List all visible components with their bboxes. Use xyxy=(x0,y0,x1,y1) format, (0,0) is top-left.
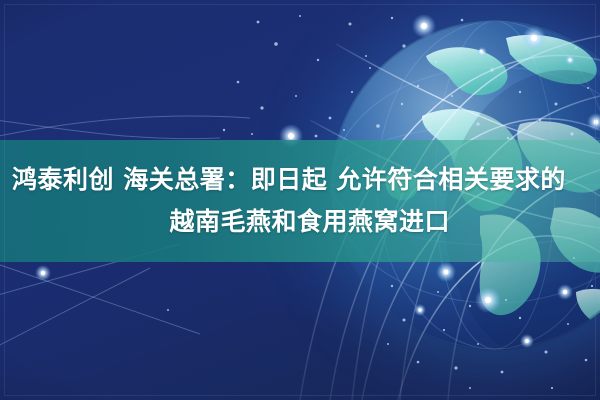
caption-text-block: 鸿泰利创 海关总署：即日起 允许符合相关要求的 越南毛燕和食用燕窝进口 xyxy=(0,140,600,262)
caption-line-1: 鸿泰利创 海关总署：即日起 允许符合相关要求的 xyxy=(12,159,566,201)
banner-image: 鸿泰利创 海关总署：即日起 允许符合相关要求的 越南毛燕和食用燕窝进口 xyxy=(0,0,600,400)
caption-line-2: 越南毛燕和食用燕窝进口 xyxy=(169,201,588,243)
